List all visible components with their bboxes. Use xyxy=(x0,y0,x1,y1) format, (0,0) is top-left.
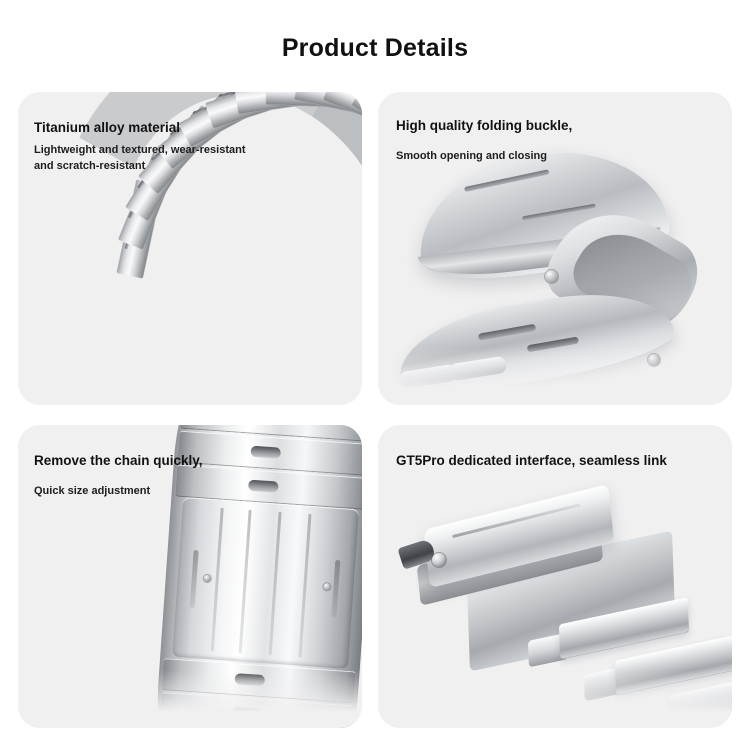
panel-remove-chain: Remove the chain quickly, Quick size adj… xyxy=(18,425,362,728)
folding-buckle-open-photo xyxy=(378,92,732,405)
buckle-bottom-fade xyxy=(378,347,732,405)
bracelet-arc xyxy=(18,92,362,405)
panel-folding-buckle: High quality folding buckle, Smooth open… xyxy=(378,92,732,405)
panel-gt5pro-interface: GT5Pro dedicated interface, seamless lin… xyxy=(378,425,732,728)
connector-bottom-fade xyxy=(378,670,732,728)
product-details-page: Product Details xyxy=(0,0,750,750)
panel-titanium-alloy-material: Titanium alloy material Lightweight and … xyxy=(18,92,362,405)
titanium-bracelet-curve-photo xyxy=(18,92,362,405)
buckle-pivot-screw-upper xyxy=(545,270,558,283)
gt5pro-connector-lug-photo xyxy=(378,425,732,728)
page-title: Product Details xyxy=(0,34,750,63)
bracelet-link-removal-photo xyxy=(18,425,362,728)
spring-bar-pin xyxy=(432,553,446,567)
bracelet-bottom-fade xyxy=(18,670,362,728)
bracelet-clasp-plate xyxy=(172,497,359,669)
